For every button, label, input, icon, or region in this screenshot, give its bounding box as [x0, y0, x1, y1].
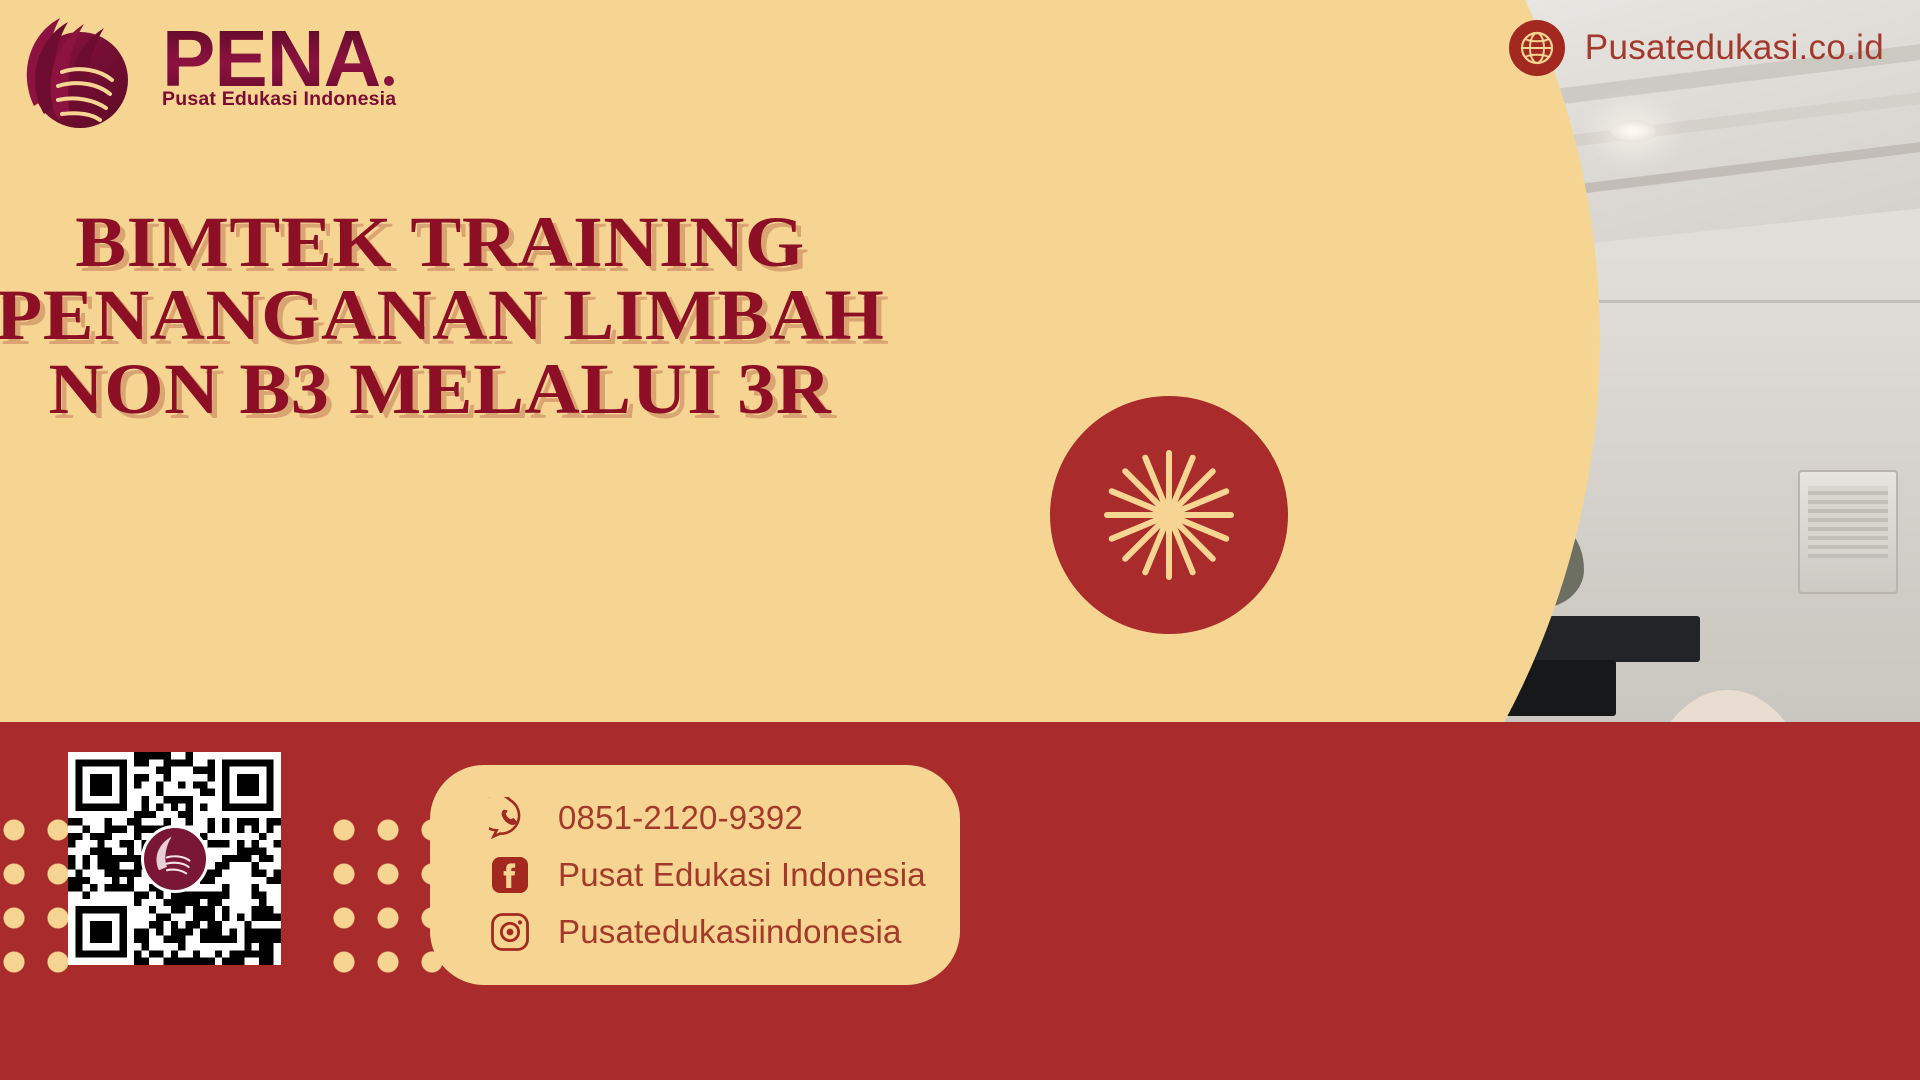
website-label: Pusatedukasi.co.id — [1585, 28, 1884, 68]
qr-center-emblem-icon — [141, 825, 209, 893]
headline-line-2: PENANGANAN LIMBAH — [0, 279, 906, 352]
dot-grid-left — [0, 808, 68, 988]
band-photo-mask — [900, 700, 1920, 1080]
website-link[interactable]: Pusatedukasi.co.id — [1509, 20, 1884, 76]
globe-icon — [1509, 20, 1565, 76]
feather-circle-emblem-icon — [14, 10, 146, 142]
whatsapp-number: 0851-2120-9392 — [558, 799, 803, 837]
starburst-badge — [1050, 396, 1288, 634]
instagram-name: Pusatedukasiindonesia — [558, 913, 902, 951]
facebook-icon — [488, 853, 532, 897]
qr-code[interactable] — [68, 752, 281, 965]
headline-line-1: BIMTEK TRAINING — [0, 206, 906, 279]
brand-logo[interactable]: PENA Pusat Edukasi Indonesia — [14, 8, 514, 140]
logo-wordmark: PENA — [162, 22, 380, 96]
headline-line-3: NON B3 MELALUI 3R — [0, 353, 906, 426]
contact-row-facebook[interactable]: Pusat Edukasi Indonesia — [430, 846, 960, 903]
banner-canvas: PENA Pusat Edukasi Indonesia Pusatedukas… — [0, 0, 1920, 1080]
contact-card: 0851-2120-9392 Pusat Edukasi Indonesia — [430, 765, 960, 985]
logo-dot — [384, 76, 394, 86]
contact-row-whatsapp[interactable]: 0851-2120-9392 — [430, 789, 960, 846]
facebook-name: Pusat Edukasi Indonesia — [558, 856, 926, 894]
contact-row-instagram[interactable]: Pusatedukasiindonesia — [430, 903, 960, 960]
instagram-icon — [488, 910, 532, 954]
dot-grid-middle — [322, 808, 442, 988]
starburst-icon — [1094, 440, 1244, 590]
page-title: BIMTEK TRAINING PENANGANAN LIMBAH NON B3… — [0, 206, 906, 426]
whatsapp-icon — [488, 796, 532, 840]
